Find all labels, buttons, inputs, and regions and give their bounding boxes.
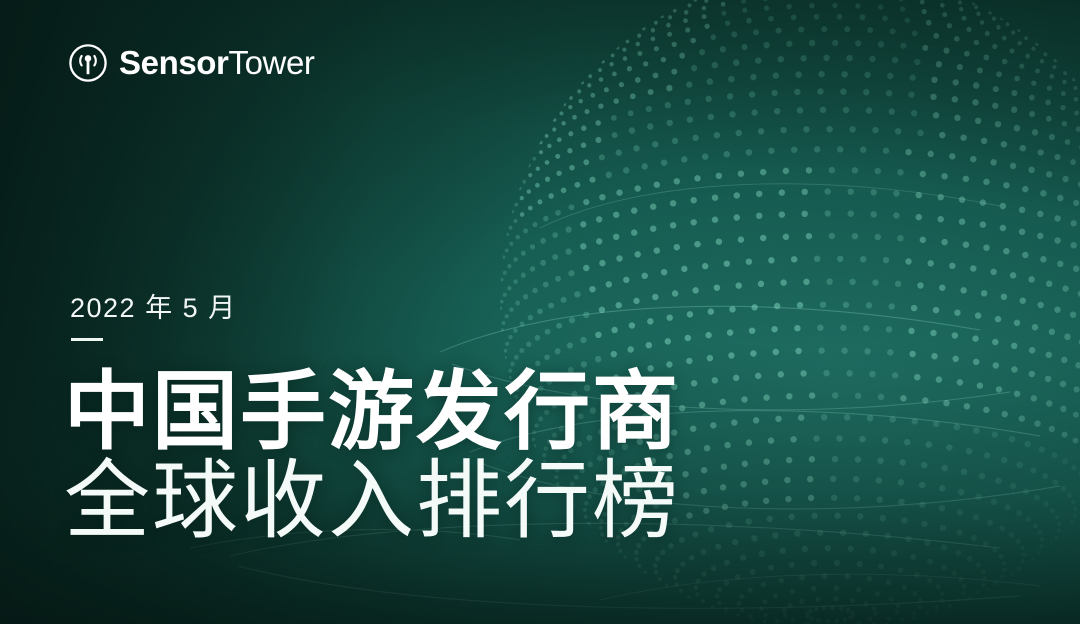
brand-logo: SensorTower xyxy=(68,41,315,85)
cover-title-line-1: 中国手游发行商 xyxy=(64,366,680,458)
poster-cover: SensorTower 2022 年 5 月 中国手游发行商 全球收入排行榜 xyxy=(0,0,1080,624)
brand-word-tower: Tower xyxy=(228,44,314,81)
brand-word-sensor: Sensor xyxy=(119,44,228,81)
sensor-tower-signal-icon xyxy=(68,43,108,83)
brand-wordmark: SensorTower xyxy=(119,43,315,83)
cover-date: 2022 年 5 月 xyxy=(70,286,237,325)
cover-title-line-2: 全球收入排行榜 xyxy=(64,455,680,547)
title-divider xyxy=(71,338,103,341)
